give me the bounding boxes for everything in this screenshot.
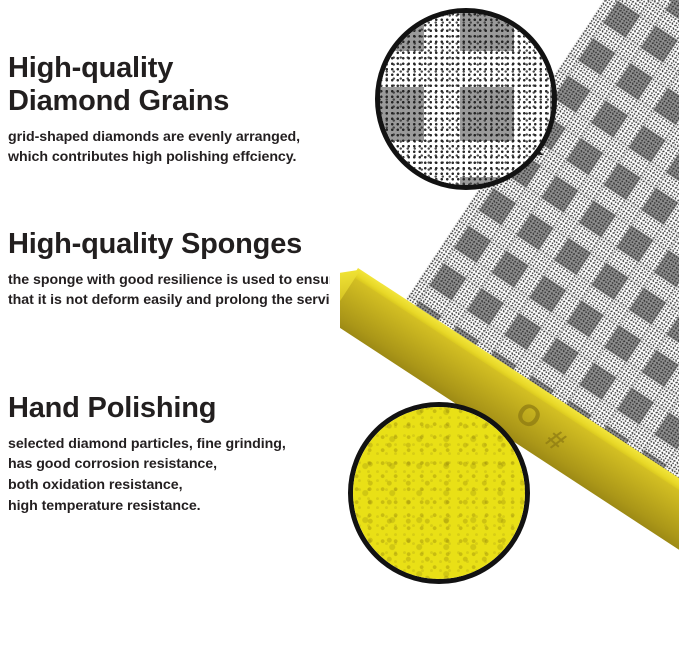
grains-magnifier-content: [375, 8, 557, 190]
feature-block-sponges: High-quality Sponges the sponge with goo…: [8, 228, 380, 311]
feature-block-diamond-grains: High-quality Diamond Grains grid-shaped …: [8, 52, 380, 168]
sponge-magnifier-callout: [348, 402, 530, 584]
feature-body-hand-polishing: selected diamond particles, fine grindin…: [8, 434, 380, 516]
feature-block-hand-polishing: Hand Polishing selected diamond particle…: [8, 392, 380, 516]
product-photo: O #: [330, 0, 679, 650]
feature-body-sponges: the sponge with good resilience is used …: [8, 270, 380, 311]
sponge-magnifier-content: [353, 407, 525, 579]
photo-left-margin-mask: [330, 0, 340, 650]
grains-magnifier-callout: [375, 8, 557, 190]
infographic-canvas: High-quality Diamond Grains grid-shaped …: [0, 0, 679, 650]
feature-heading-sponges: High-quality Sponges: [8, 228, 380, 261]
feature-heading-diamond-grains: High-quality Diamond Grains: [8, 52, 380, 118]
feature-heading-hand-polishing: Hand Polishing: [8, 392, 380, 425]
feature-body-diamond-grains: grid-shaped diamonds are evenly arranged…: [8, 127, 380, 168]
